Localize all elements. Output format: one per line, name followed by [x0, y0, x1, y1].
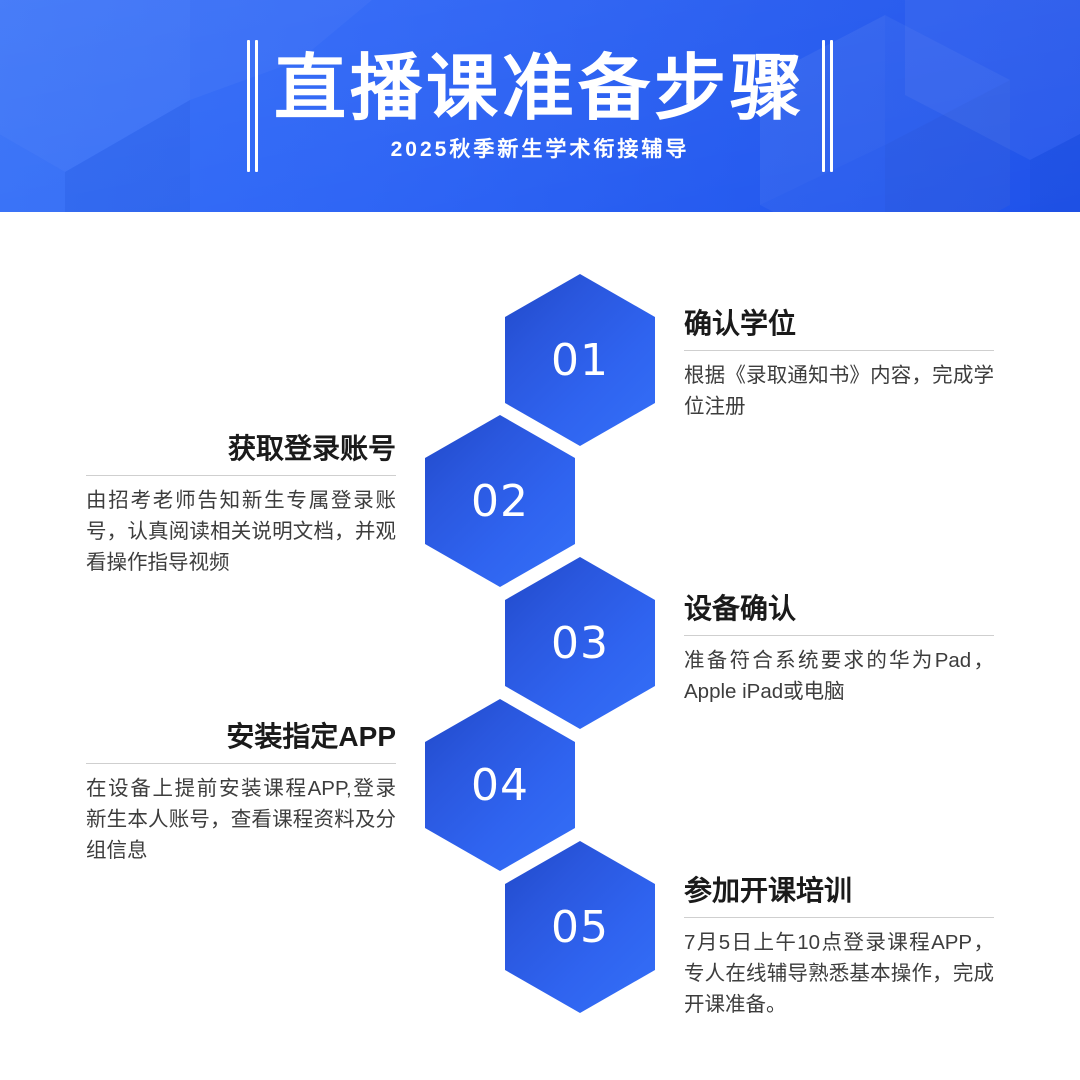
header-banner: 直播课准备步骤 2025秋季新生学术衔接辅导 — [0, 0, 1080, 212]
step-item-05[interactable]: 05 参加开课培训 7月5日上午10点登录课程APP，专人在线辅导熟悉基本操作，… — [0, 832, 1080, 1022]
step-title-01: 确认学位 — [684, 307, 994, 341]
step-title-05: 参加开课培训 — [684, 874, 994, 908]
step-divider-02 — [86, 475, 396, 476]
title-right-bars-icon — [822, 40, 833, 172]
step-text-block-01: 确认学位 根据《录取通知书》内容，完成学位注册 — [684, 307, 994, 422]
step-number-05: 05 — [551, 902, 609, 953]
step-divider-05 — [684, 917, 994, 918]
title-left-bars-icon — [247, 40, 258, 172]
step-title-04: 安装指定APP — [86, 720, 396, 754]
step-title-02: 获取登录账号 — [86, 432, 396, 466]
step-number-03: 03 — [551, 618, 609, 669]
page-title: 直播课准备步骤 — [274, 47, 806, 131]
steps-flow: 01 确认学位 根据《录取通知书》内容，完成学位注册 02 获取登录账号 由招考… — [0, 212, 1080, 1080]
step-text-block-05: 参加开课培训 7月5日上午10点登录课程APP，专人在线辅导熟悉基本操作，完成开… — [684, 874, 994, 1020]
step-divider-03 — [684, 635, 994, 636]
step-number-02: 02 — [471, 476, 529, 527]
step-number-04: 04 — [471, 760, 529, 811]
step-divider-01 — [684, 350, 994, 351]
step-number-01: 01 — [551, 335, 609, 386]
page-subtitle: 2025秋季新生学术衔接辅导 — [391, 135, 690, 165]
step-title-03: 设备确认 — [684, 592, 994, 626]
header-title-block: 直播课准备步骤 2025秋季新生学术衔接辅导 — [0, 0, 1080, 212]
step-description-05: 7月5日上午10点登录课程APP，专人在线辅导熟悉基本操作，完成开课准备。 — [684, 927, 994, 1020]
step-divider-04 — [86, 763, 396, 764]
